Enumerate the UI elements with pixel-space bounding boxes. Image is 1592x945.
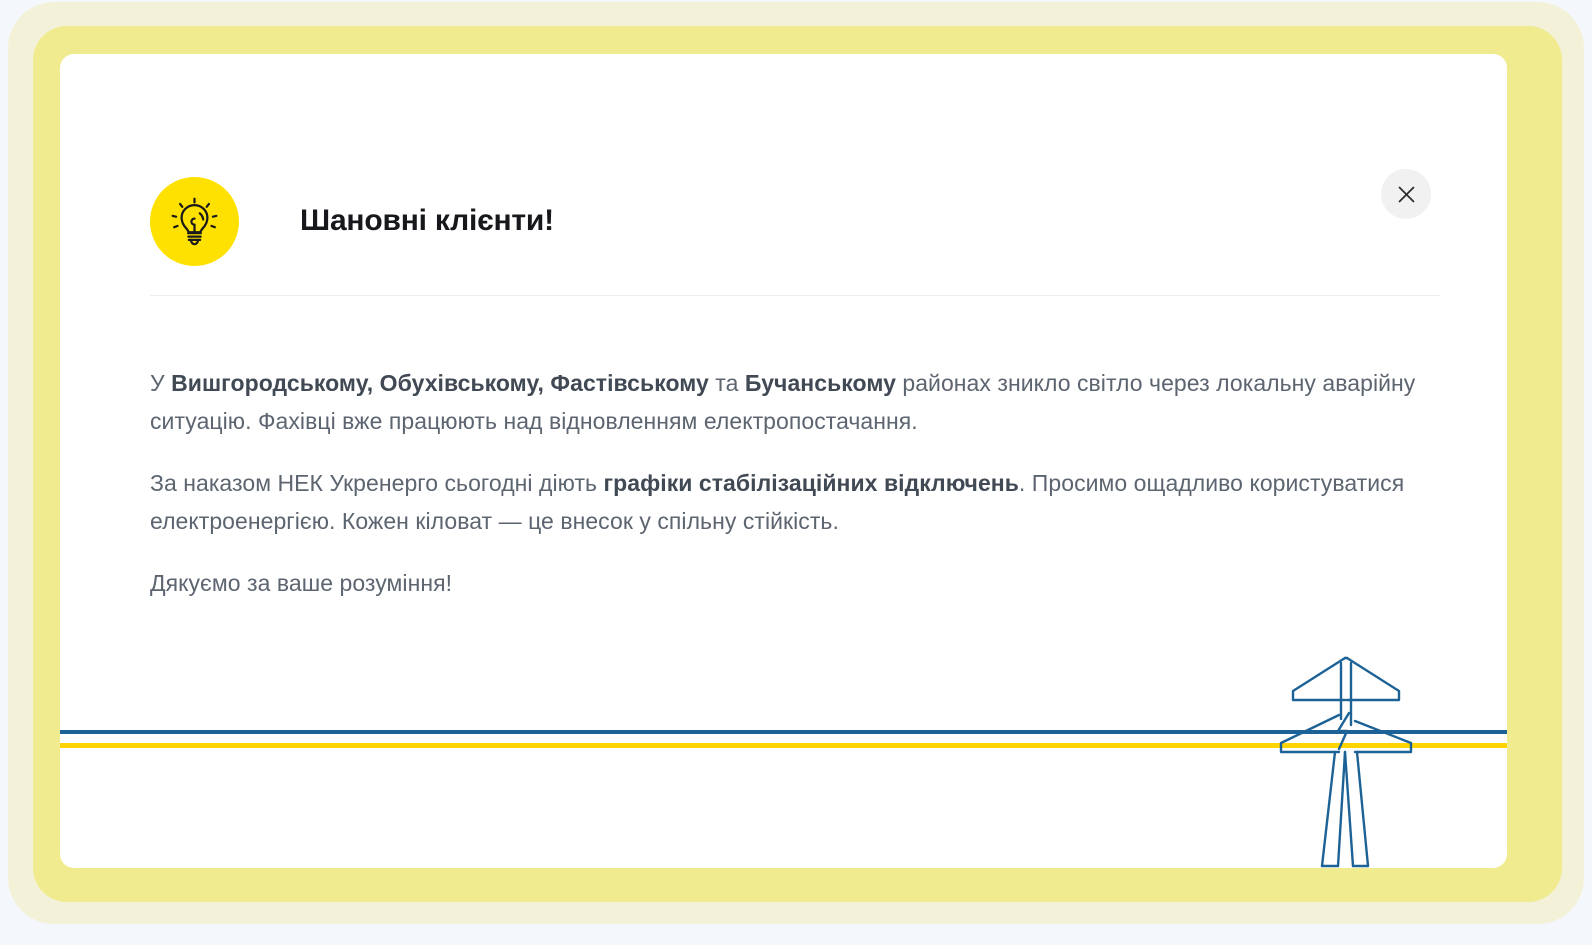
notice-paragraph: За наказом НЕК Укренерго сьогодні діють …	[150, 464, 1450, 540]
notice-paragraph: У Вишгородському, Обухівському, Фастівсь…	[150, 364, 1450, 440]
close-button[interactable]	[1381, 169, 1431, 219]
page-title: Шановні клієнти!	[300, 197, 554, 245]
power-pylon-icon	[1275, 653, 1415, 868]
notice-paragraph: Дякуємо за ваше розуміння!	[150, 564, 1450, 602]
close-icon	[1398, 186, 1415, 203]
header-divider	[150, 295, 1440, 296]
emphasis-text: графіки стабілізаційних відключень	[604, 470, 1019, 496]
body-text: Дякуємо за ваше розуміння!	[150, 570, 452, 596]
emphasis-text: Бучанському	[745, 370, 896, 396]
notice-dialog: Шановні клієнти! У Вишгородському, Обухі…	[60, 54, 1507, 868]
dialog-body: У Вишгородському, Обухівському, Фастівсь…	[150, 364, 1450, 602]
body-text: За наказом НЕК Укренерго сьогодні діють	[150, 470, 604, 496]
emphasis-text: Вишгородському, Обухівському, Фастівсько…	[171, 370, 709, 396]
body-text: У	[150, 370, 171, 396]
dialog-header: Шановні клієнти!	[60, 54, 1507, 296]
body-text: та	[709, 370, 745, 396]
lightbulb-icon	[150, 177, 239, 266]
